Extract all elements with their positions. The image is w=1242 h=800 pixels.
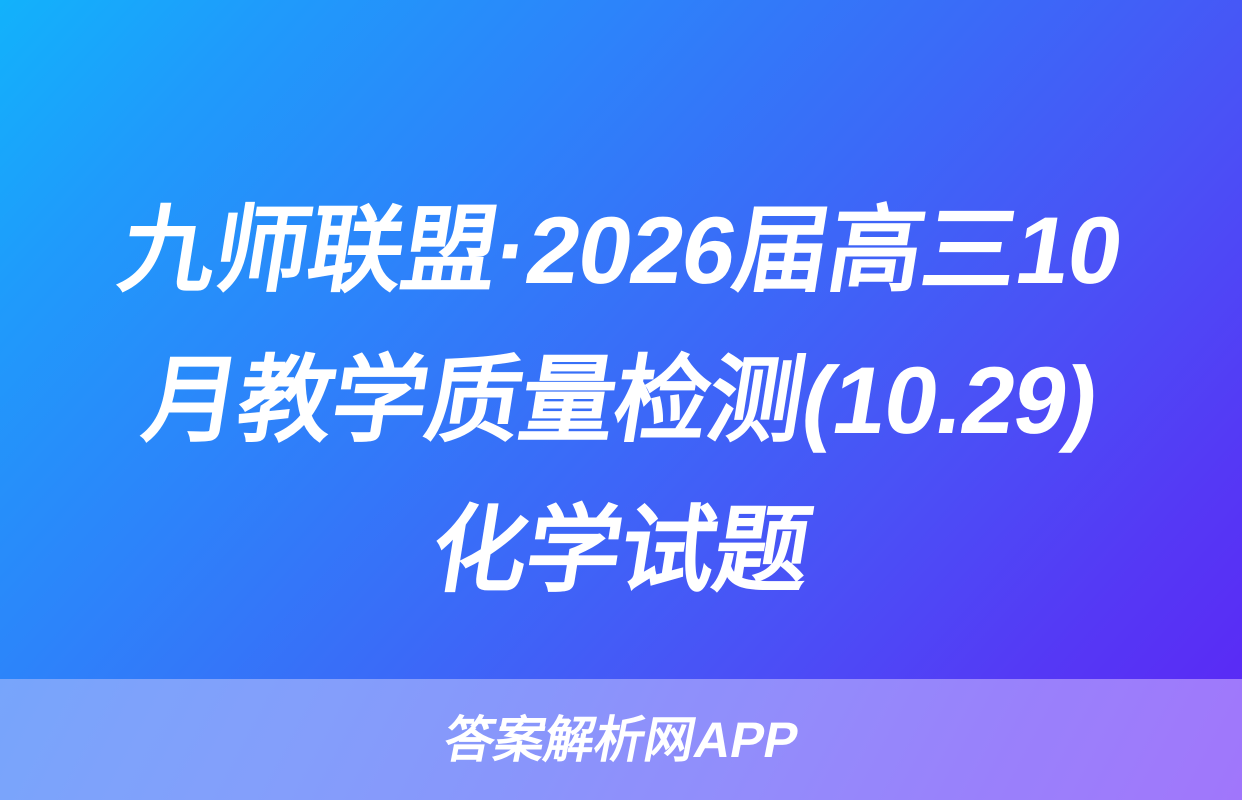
poster-title-block: 九师联盟·2026届高三10 月教学质量检测(10.29) 化学试题 [0, 176, 1242, 626]
app-watermark-label: 答案解析网APP [440, 715, 803, 765]
poster-title-line-1: 九师联盟·2026届高三10 [109, 176, 1132, 326]
exam-cover-poster: 九师联盟·2026届高三10 月教学质量检测(10.29) 化学试题 答案解析网… [0, 0, 1242, 800]
poster-title-line-3: 化学试题 [421, 476, 821, 626]
footer-watermark-strip: 答案解析网APP [0, 679, 1242, 800]
poster-title-line-2: 月教学质量检测(10.29) [133, 326, 1109, 476]
